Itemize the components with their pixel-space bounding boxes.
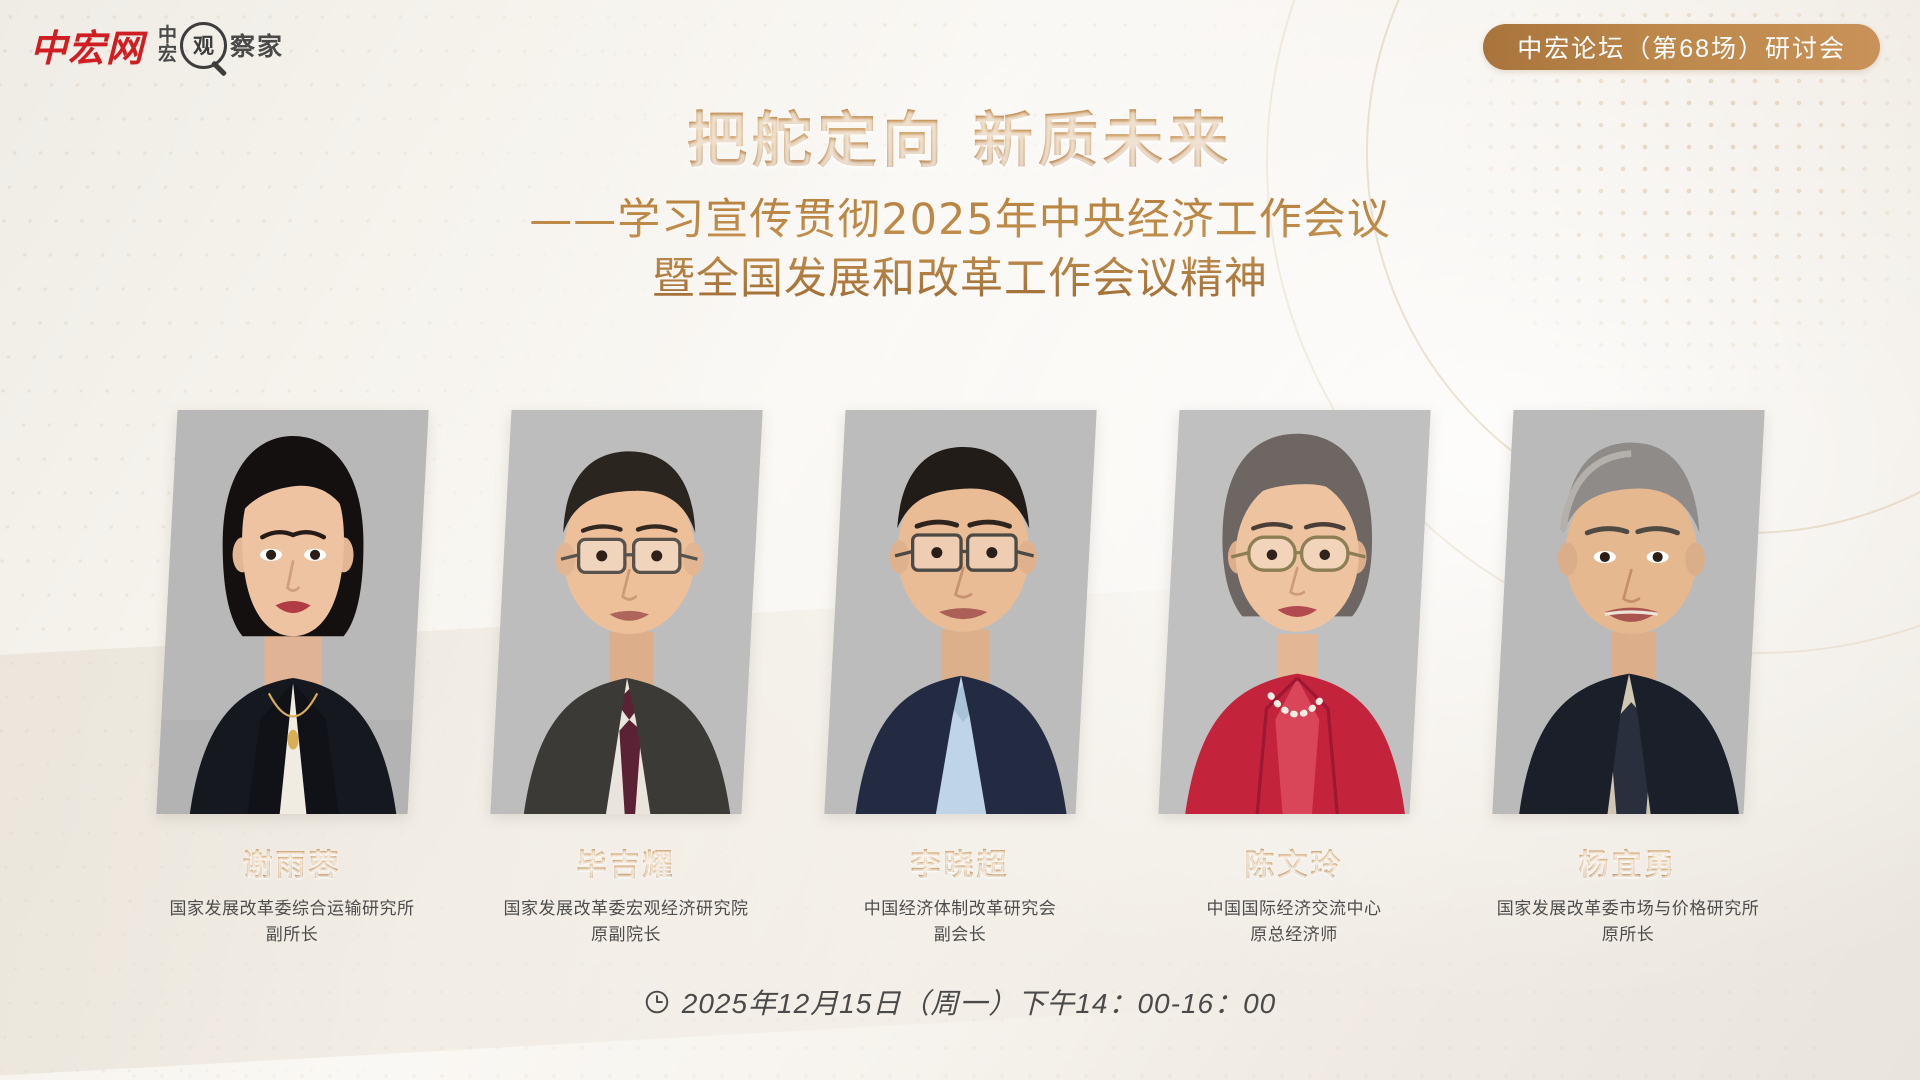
- speaker-card[interactable]: 李晓超 中国经济体制改革研究会 副会长: [815, 410, 1105, 947]
- speaker-photo: [490, 410, 762, 814]
- speaker-affiliation: 中国国际经济交流中心 原总经济师: [1207, 896, 1382, 947]
- speaker-photo: [1492, 410, 1764, 814]
- speaker-card[interactable]: 陈文玲 中国国际经济交流中心 原总经济师: [1149, 410, 1439, 947]
- speaker-affiliation-line-2: 副会长: [864, 922, 1057, 948]
- speaker-card[interactable]: 毕吉耀 国家发展改革委宏观经济研究院 原副院长: [481, 410, 771, 947]
- speaker-affiliation: 国家发展改革委市场与价格研究所 原所长: [1497, 896, 1760, 947]
- speaker-affiliation-line-2: 原总经济师: [1207, 922, 1382, 948]
- event-datetime-text: 2025年12月15日（周一）下午14：00-16：00: [682, 982, 1276, 1022]
- page-subtitle-line-2: 暨全国发展和改革工作会议精神: [0, 250, 1920, 308]
- clock-icon: [644, 989, 670, 1015]
- speaker-affiliation-line-2: 原所长: [1497, 922, 1760, 948]
- speaker-card[interactable]: 谢雨蓉 国家发展改革委综合运输研究所 副所长: [147, 410, 437, 947]
- speaker-affiliation: 国家发展改革委宏观经济研究院 原副院长: [504, 896, 749, 947]
- forum-session-label: 中宏论坛（第68场）研讨会: [1517, 29, 1846, 65]
- poster-canvas: 中宏网 中 宏 观 察家 中宏论坛（第68场）研讨会 把舵定向 新质未来 ——学…: [0, 0, 1920, 1080]
- title-block: 把舵定向 新质未来 ——学习宣传贯彻2025年中央经济工作会议 暨全国发展和改革…: [0, 108, 1920, 308]
- speaker-name: 杨宜勇: [1579, 840, 1678, 884]
- speaker-affiliation: 国家发展改革委综合运输研究所 副所长: [170, 896, 415, 947]
- speaker-photo: [824, 410, 1096, 814]
- portrait-illustration: [1492, 410, 1764, 814]
- speaker-name: 谢雨蓉: [243, 840, 342, 884]
- speaker-affiliation-line-1: 国家发展改革委宏观经济研究院: [504, 896, 749, 922]
- speaker-affiliation: 中国经济体制改革研究会 副会长: [864, 896, 1057, 947]
- forum-session-badge: 中宏论坛（第68场）研讨会: [1483, 24, 1880, 70]
- speaker-name: 陈文玲: [1245, 840, 1344, 884]
- speaker-affiliation-line-1: 国家发展改革委市场与价格研究所: [1497, 896, 1760, 922]
- portrait-illustration: [824, 410, 1096, 814]
- page-title: 把舵定向 新质未来: [0, 108, 1920, 175]
- logo-brand-text: 中宏网: [30, 18, 144, 72]
- magnifier-icon: 观: [180, 22, 227, 69]
- portrait-illustration: [1158, 410, 1430, 814]
- speaker-affiliation-line-1: 国家发展改革委综合运输研究所: [170, 896, 415, 922]
- speaker-affiliation-line-1: 中国国际经济交流中心: [1207, 896, 1382, 922]
- speaker-name: 李晓超: [911, 840, 1010, 884]
- logo-observer-lockup: 中 宏 观 察家: [158, 22, 284, 69]
- logo-tail-text: 察家: [230, 27, 284, 63]
- speaker-card[interactable]: 杨宜勇 国家发展改革委市场与价格研究所 原所长: [1483, 410, 1773, 947]
- portrait-illustration: [490, 410, 762, 814]
- speaker-photo: [156, 410, 428, 814]
- magnifier-inner-char: 观: [193, 30, 214, 60]
- speaker-name: 毕吉耀: [577, 840, 676, 884]
- event-datetime: 2025年12月15日（周一）下午14：00-16：00: [0, 982, 1920, 1022]
- speaker-photo: [1158, 410, 1430, 814]
- speaker-affiliation-line-2: 副所长: [170, 922, 415, 948]
- speaker-affiliation-line-1: 中国经济体制改革研究会: [864, 896, 1057, 922]
- speaker-affiliation-line-2: 原副院长: [504, 922, 749, 948]
- logo-sub-char-2: 宏: [158, 45, 177, 64]
- page-subtitle: ——学习宣传贯彻2025年中央经济工作会议 暨全国发展和改革工作会议精神: [0, 191, 1920, 308]
- site-logo[interactable]: 中宏网 中 宏 观 察家: [30, 18, 284, 72]
- page-subtitle-line-1: ——学习宣传贯彻2025年中央经济工作会议: [0, 191, 1920, 249]
- speaker-list: 谢雨蓉 国家发展改革委综合运输研究所 副所长: [80, 410, 1840, 947]
- portrait-illustration: [156, 410, 428, 814]
